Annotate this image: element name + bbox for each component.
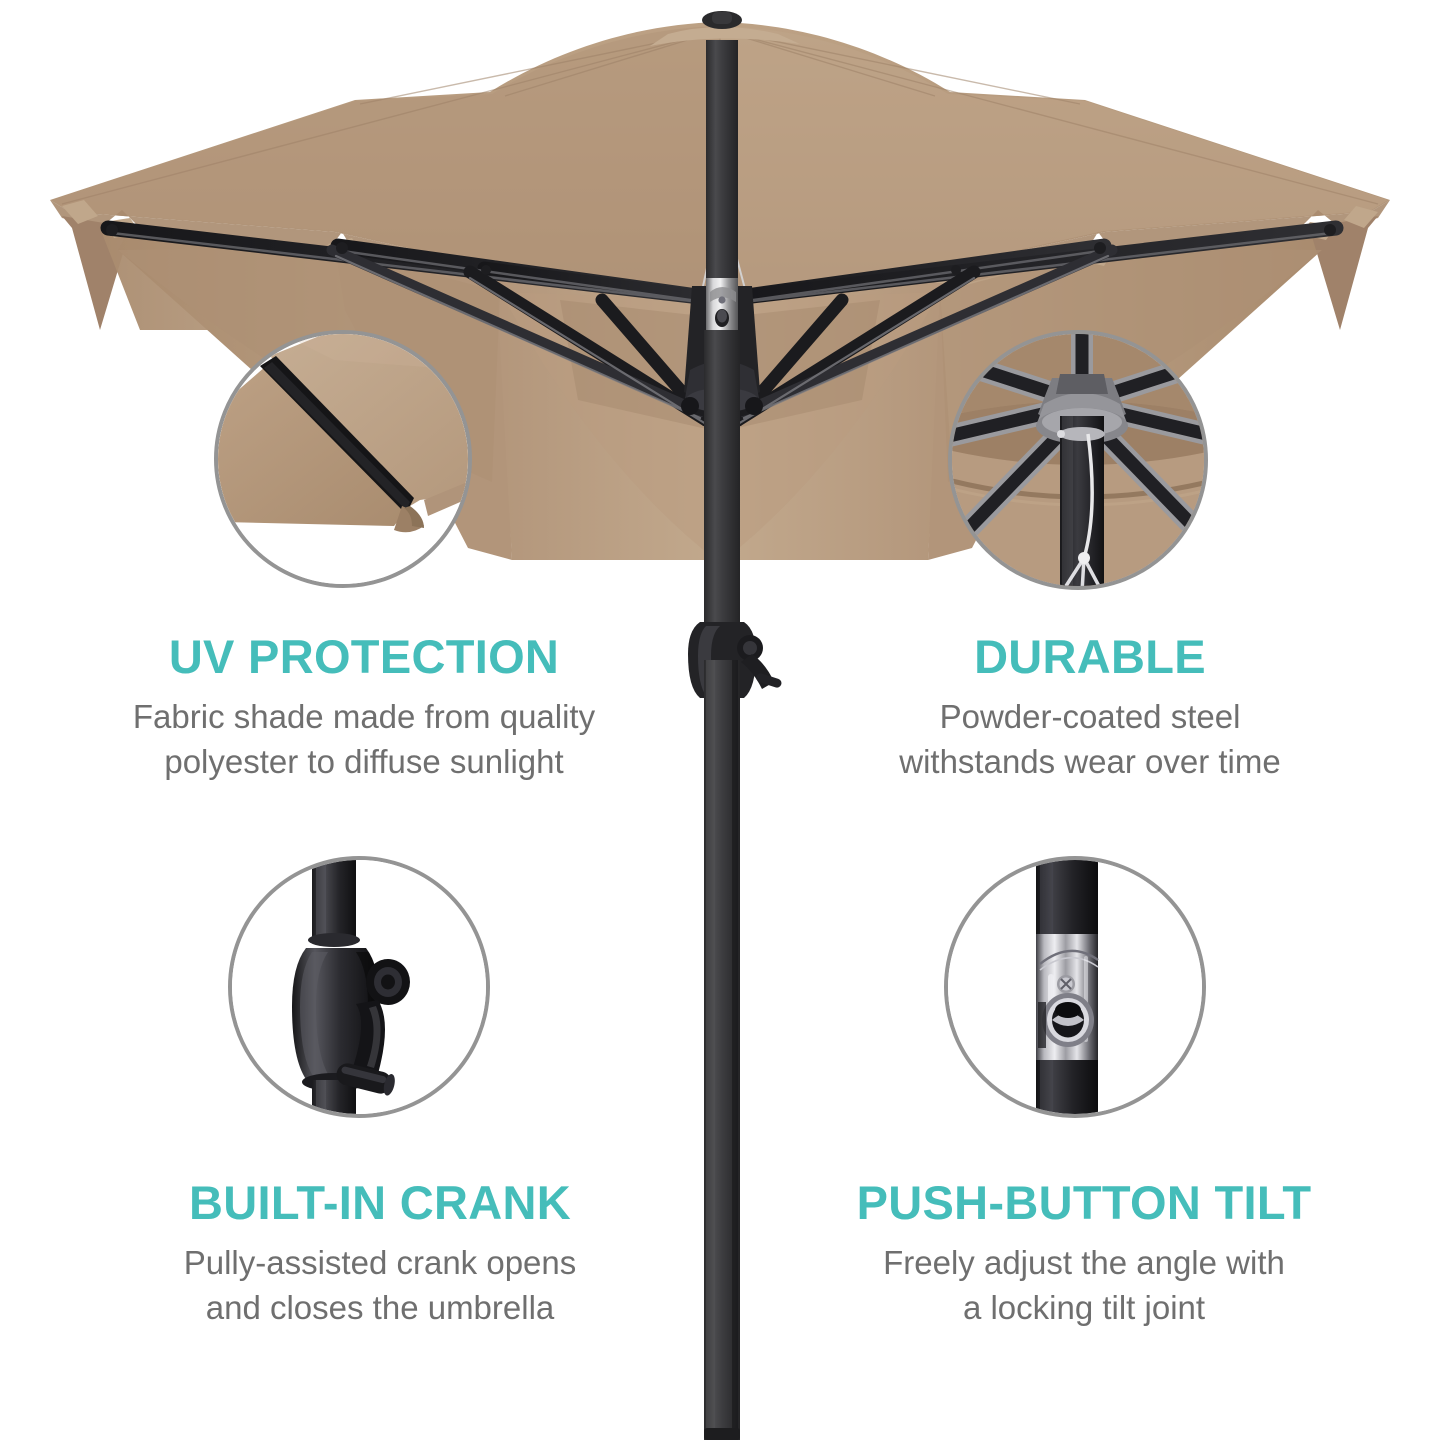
- feature-title-uv-protection: UV PROTECTION: [24, 632, 704, 681]
- product-infographic: UV PROTECTION Fabric shade made from qua…: [0, 0, 1440, 1440]
- feature-desc-line: withstands wear over time: [760, 740, 1420, 784]
- crank-handle-closeup-image: [228, 856, 490, 1118]
- callout-circle-uv-protection: [214, 330, 472, 588]
- feature-push-button-tilt: PUSH-BUTTON TILT Freely adjust the angle…: [748, 1178, 1420, 1330]
- feature-desc-line: Freely adjust the angle with: [748, 1241, 1420, 1285]
- tilt-joint-on-pole: [706, 278, 738, 336]
- feature-durable: DURABLE Powder-coated steel withstands w…: [760, 632, 1420, 784]
- feature-desc-line: Fabric shade made from quality: [24, 695, 704, 739]
- feature-desc-built-in-crank: Pully-assisted crank opens and closes th…: [40, 1241, 720, 1329]
- feature-desc-line: polyester to diffuse sunlight: [24, 740, 704, 784]
- feature-desc-line: a locking tilt joint: [748, 1286, 1420, 1330]
- tilt-joint-closeup-image: [944, 856, 1206, 1118]
- feature-desc-line: Pully-assisted crank opens: [40, 1241, 720, 1285]
- feature-desc-line: and closes the umbrella: [40, 1286, 720, 1330]
- feature-title-durable: DURABLE: [760, 632, 1420, 681]
- callout-circle-built-in-crank: [228, 856, 490, 1118]
- feature-desc-line: Powder-coated steel: [760, 695, 1420, 739]
- feature-uv-protection: UV PROTECTION Fabric shade made from qua…: [24, 632, 704, 784]
- fabric-canopy-closeup-image: [214, 330, 472, 588]
- feature-built-in-crank: BUILT-IN CRANK Pully-assisted crank open…: [40, 1178, 720, 1330]
- callout-circle-push-button-tilt: [944, 856, 1206, 1118]
- feature-title-built-in-crank: BUILT-IN CRANK: [40, 1178, 720, 1227]
- feature-desc-uv-protection: Fabric shade made from quality polyester…: [24, 695, 704, 783]
- feature-desc-durable: Powder-coated steel withstands wear over…: [760, 695, 1420, 783]
- feature-title-push-button-tilt: PUSH-BUTTON TILT: [748, 1178, 1420, 1227]
- canopy-hub-underside-closeup-image: [948, 330, 1208, 590]
- feature-desc-push-button-tilt: Freely adjust the angle with a locking t…: [748, 1241, 1420, 1329]
- callout-circle-durable: [948, 330, 1208, 590]
